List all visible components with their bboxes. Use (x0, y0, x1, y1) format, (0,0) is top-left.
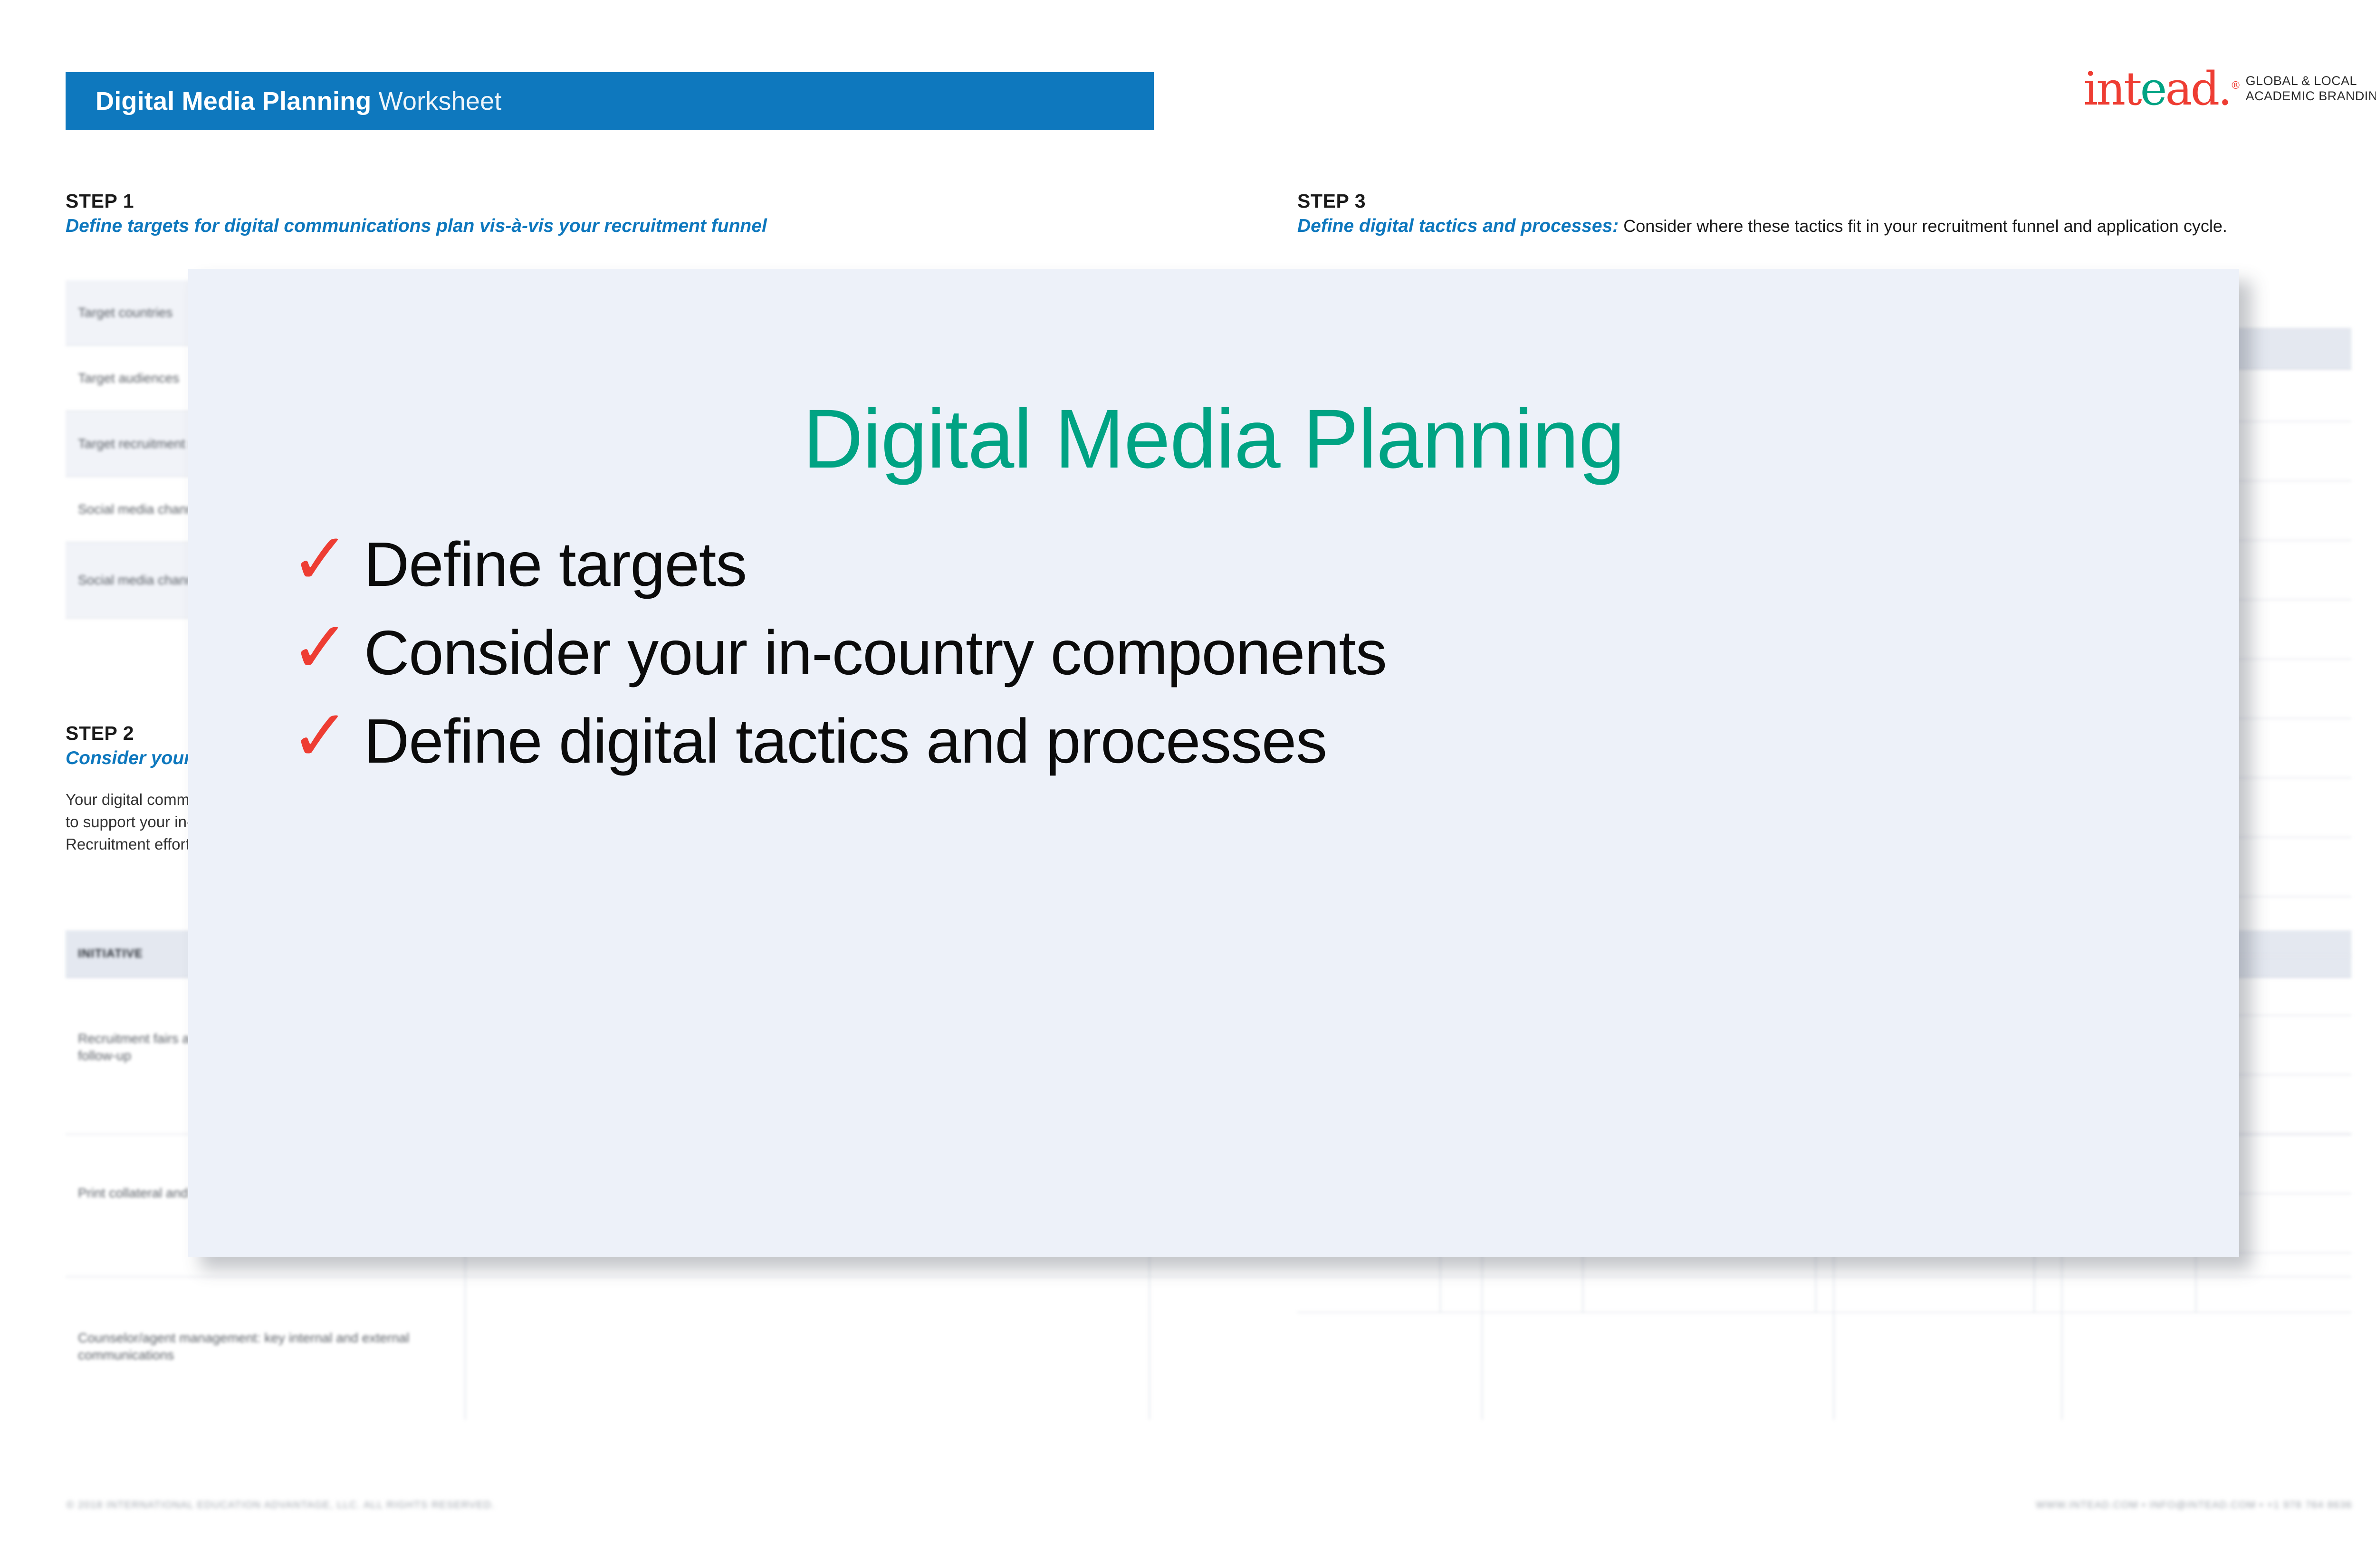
worksheet-page: Digital Media Planning Worksheet intead.… (0, 0, 2376, 1568)
worksheet-title-light: Worksheet (371, 87, 501, 115)
overlay-item-label: Define digital tactics and processes (364, 710, 1327, 773)
list-item: ✓ Define targets (290, 534, 2239, 595)
table-cell: Target countries (66, 304, 185, 321)
step-3-subtitle-plain: Consider where these tactics fit in your… (1619, 216, 2227, 236)
step-3-subtitle-italic: Define digital tactics and processes: (1297, 216, 1619, 236)
step-3-number: STEP 3 (1297, 190, 2227, 212)
worksheet-title: Digital Media Planning Worksheet (96, 86, 502, 116)
step-3-subtitle: Define digital tactics and processes: Co… (1297, 216, 2227, 237)
overlay-item-label: Define targets (364, 533, 747, 596)
worksheet-header-bar: Digital Media Planning Worksheet (66, 72, 1154, 130)
step-1-subtitle: Define targets for digital communication… (66, 216, 767, 237)
worksheet-title-bold: Digital Media Planning (96, 87, 371, 115)
table-cell: Target audiences (66, 370, 192, 387)
intead-logo: intead.® GLOBAL & LOCAL ACADEMIC BRANDIN… (2084, 71, 2376, 107)
logo-word-dot: . (2218, 62, 2231, 115)
overlay-slide-card: Digital Media Planning ✓ Define targets … (188, 269, 2239, 1257)
logo-tagline: GLOBAL & LOCAL ACADEMIC BRANDING (2246, 74, 2376, 107)
step-1-number: STEP 1 (66, 190, 767, 212)
list-item: ✓ Define digital tactics and processes (290, 711, 2239, 772)
overlay-item-label: Consider your in-country components (364, 621, 1387, 684)
logo-wordmark: intead.® (2084, 71, 2239, 107)
step-1-block: STEP 1 Define targets for digital commun… (66, 190, 767, 237)
table-cell: Counselor/agent management: key internal… (66, 1329, 465, 1364)
logo-tagline-line1: GLOBAL & LOCAL (2246, 74, 2376, 89)
footer-copyright: © 2018 INTERNATIONAL EDUCATION ADVANTAGE… (67, 1500, 495, 1511)
footer-contact: WWW.INTEAD.COM • INFO@INTEAD.COM • +1 97… (2036, 1500, 2352, 1511)
list-item: ✓ Consider your in-country components (290, 622, 2239, 683)
check-icon: ✓ (290, 612, 364, 683)
logo-word-part1: int (2084, 62, 2140, 115)
step-3-block: STEP 3 Define digital tactics and proces… (1297, 190, 2227, 237)
check-icon: ✓ (290, 700, 364, 771)
logo-tagline-line2: ACADEMIC BRANDING (2246, 89, 2376, 104)
overlay-checklist: ✓ Define targets ✓ Consider your in-coun… (188, 534, 2239, 772)
check-icon: ✓ (290, 523, 364, 594)
registered-mark-icon: ® (2231, 80, 2239, 92)
logo-word-teal-e: e (2140, 62, 2165, 115)
table-row (1297, 1253, 2351, 1313)
logo-word-part2: ad (2165, 62, 2218, 115)
overlay-title: Digital Media Planning (188, 397, 2239, 481)
